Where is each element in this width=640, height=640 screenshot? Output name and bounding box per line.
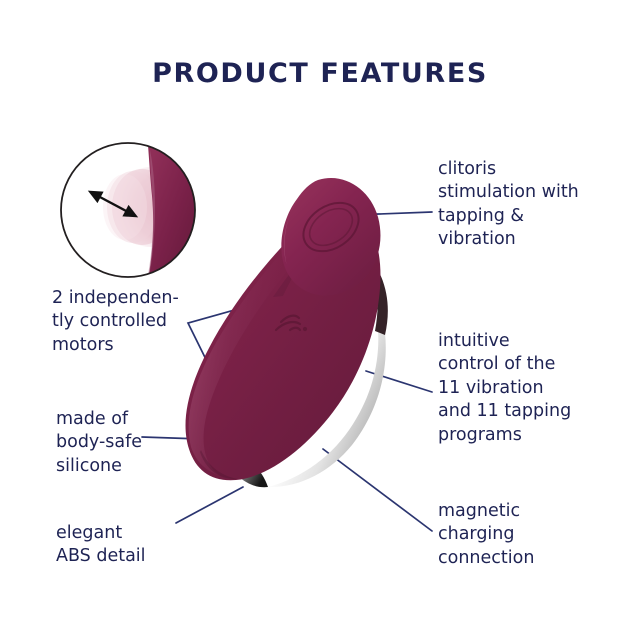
callout-intuitive-control: intuitive control of the 11 vibration an…: [438, 330, 638, 447]
leader-line-magnetic: [323, 449, 432, 531]
leader-line-abs: [176, 487, 243, 523]
callout-abs-detail: elegant ABS detail: [56, 522, 231, 569]
callout-silicone: made of body-safe silicone: [56, 408, 231, 478]
motor-detail-magnifier: [55, 137, 205, 291]
callout-motors: 2 independen- tly controlled motors: [52, 287, 227, 357]
callout-magnetic-charging: magnetic charging connection: [438, 500, 638, 570]
infographic-root: PRODUCT FEATURES: [0, 0, 640, 640]
callout-clitoris-stimulation: clitoris stimulation with tapping & vibr…: [438, 158, 638, 252]
